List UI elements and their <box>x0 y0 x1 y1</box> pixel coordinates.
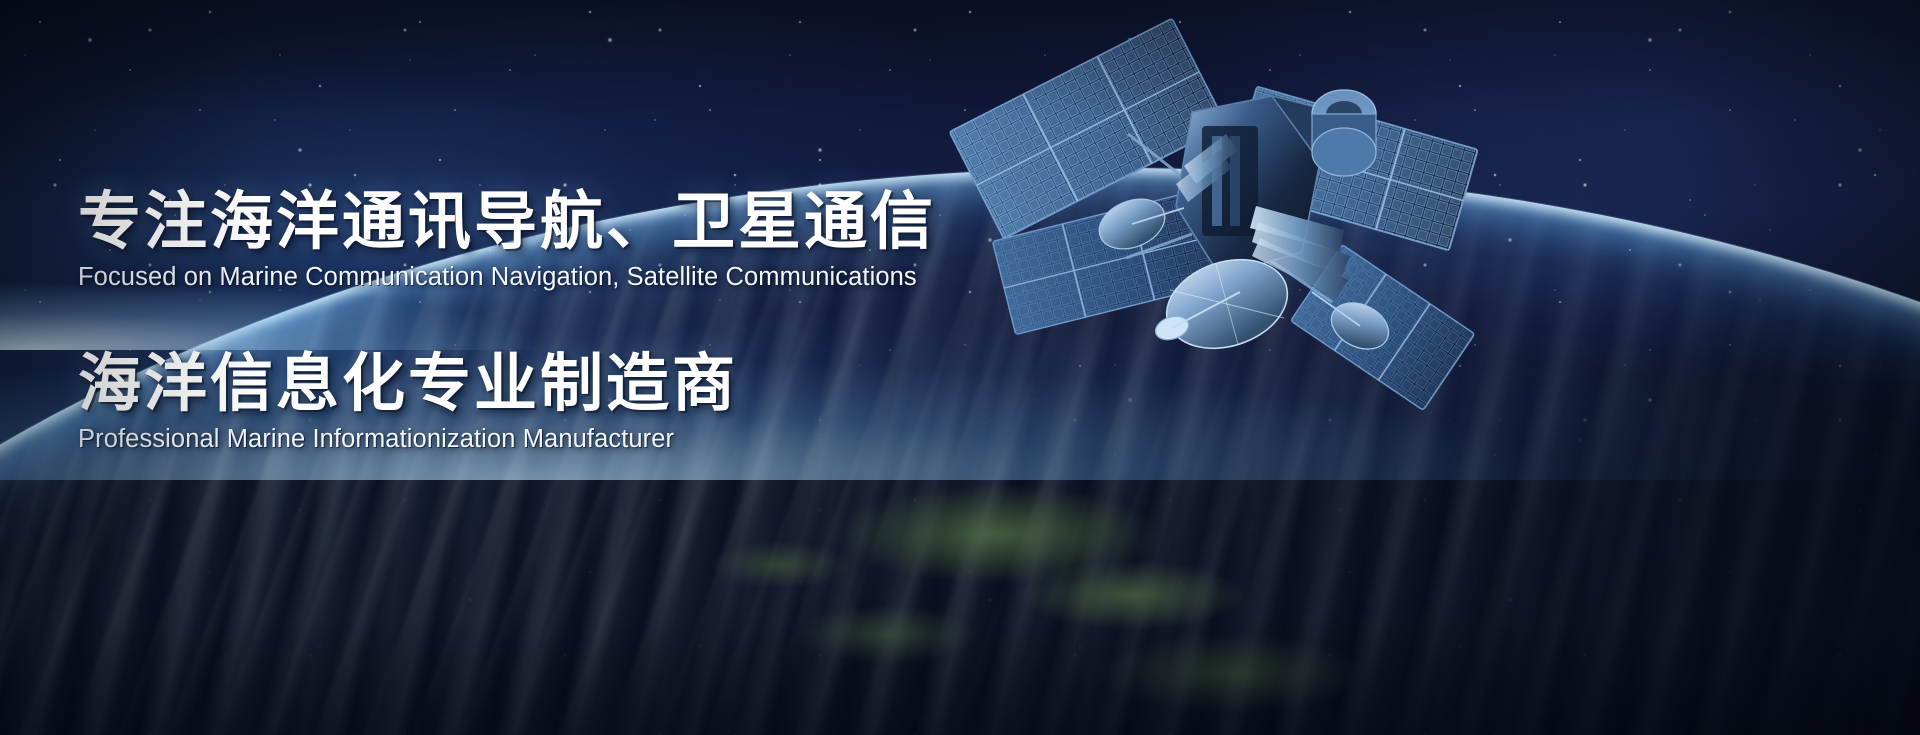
subtitle-primary-en: Focused on Marine Communication Navigati… <box>78 263 1078 292</box>
subtitle-secondary-en: Professional Marine Informationization M… <box>78 425 1078 454</box>
headline-primary-cn: 专注海洋通讯导航、卫星通信 <box>78 188 1078 256</box>
hero-copy: 专注海洋通讯导航、卫星通信 Focused on Marine Communic… <box>78 188 1078 454</box>
headline-secondary-cn: 海洋信息化专业制造商 <box>78 350 1078 418</box>
hero-banner: 专注海洋通讯导航、卫星通信 Focused on Marine Communic… <box>0 0 1920 735</box>
satellite-module <box>1312 90 1376 176</box>
headline-block-1: 专注海洋通讯导航、卫星通信 Focused on Marine Communic… <box>78 188 1078 292</box>
headline-block-2: 海洋信息化专业制造商 Professional Marine Informati… <box>78 350 1078 454</box>
